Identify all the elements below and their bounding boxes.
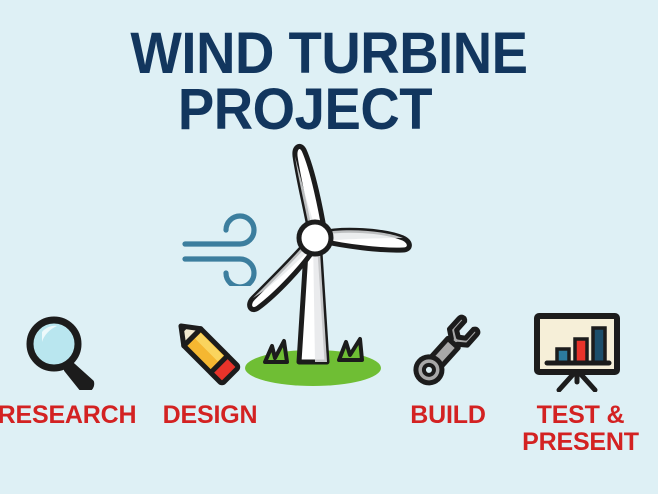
step-label-test-present-line2: PRESENT [508,429,653,456]
magnifier-handle [66,364,92,390]
presentation-board-icon [529,312,625,392]
page-title: WIND TURBINE PROJECT [0,26,658,138]
title-line-1: WIND TURBINE [20,26,639,82]
title-line-2: PROJECT [0,82,637,138]
step-label-test-present: TEST & PRESENT [508,402,653,456]
wind-turbine-icon [243,138,433,390]
pencil-icon [163,308,247,392]
wrench-icon [407,312,483,392]
wrench-ring-hole [422,363,436,377]
magnifying-glass-icon [22,314,100,390]
board-bar-3 [593,328,605,363]
step-label-research: RESEARCH [0,402,142,429]
wind-turbine-project-poster: WIND TURBINE PROJECT [0,0,658,494]
board-bar-2 [575,339,587,363]
step-label-build: BUILD [398,402,498,429]
step-label-test-present-line1: TEST & [508,402,653,429]
turbine-hub [299,222,331,254]
step-label-design: DESIGN [150,402,270,429]
